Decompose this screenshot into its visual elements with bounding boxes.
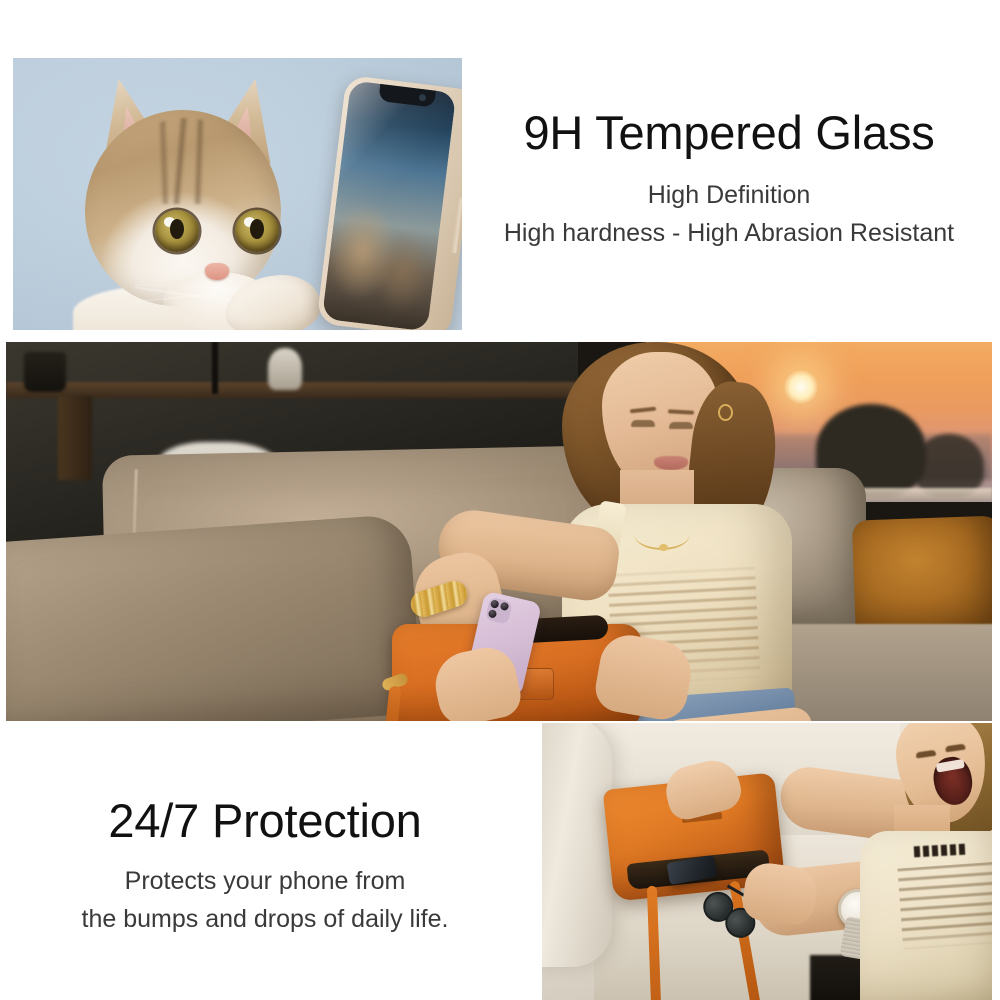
camera-lens <box>490 599 500 609</box>
protection-subtitle-1: Protects your phone from <box>46 862 484 901</box>
eye-left <box>631 420 655 427</box>
eye-right <box>945 744 966 753</box>
protection-subtitle-2: the bumps and drops of daily life. <box>46 900 484 939</box>
tempered-glass-headline: 9H Tempered Glass <box>470 108 988 158</box>
camera-lens <box>488 609 498 619</box>
protection-text-block: 24/7 Protection Protects your phone from… <box>46 796 484 939</box>
dark-jar-decor <box>24 352 66 392</box>
tempered-glass-subtitle-1: High Definition <box>470 176 988 214</box>
couch-armrest <box>542 723 612 967</box>
cat-eye-right <box>235 210 279 252</box>
woman-shocked-bag-contents-photo <box>542 723 992 1000</box>
tempered-glass-text-block: 9H Tempered Glass High Definition High h… <box>470 108 988 252</box>
protection-headline: 24/7 Protection <box>46 796 484 846</box>
woman-placing-phone-in-bag-photo <box>6 342 992 721</box>
eye-right <box>669 422 693 429</box>
phone-camera-module <box>485 597 513 625</box>
tempered-glass-subtitle-2: High hardness - High Abrasion Resistant <box>470 214 988 252</box>
camera-lens <box>500 602 510 612</box>
gold-necklace <box>634 518 690 550</box>
silhouette-tree <box>914 434 984 496</box>
console-table-leg <box>58 396 92 480</box>
cat-eye-left <box>155 210 199 252</box>
eyebrow-right <box>668 409 694 414</box>
white-vase-decor <box>268 348 302 390</box>
cat-pawing-phone-photo <box>13 58 462 330</box>
eye-glint <box>164 217 175 227</box>
eye-left <box>916 750 937 759</box>
lips <box>654 456 688 470</box>
sun-disc <box>784 370 818 404</box>
eyebrow-left <box>630 407 656 414</box>
cat-forehead-stripes <box>128 118 242 204</box>
lamp-stem-decor <box>212 342 218 394</box>
eye-glint <box>244 217 255 227</box>
sofa-armrest <box>6 514 422 721</box>
tank-top-printed-text <box>897 862 992 950</box>
hoop-earring <box>718 404 733 421</box>
